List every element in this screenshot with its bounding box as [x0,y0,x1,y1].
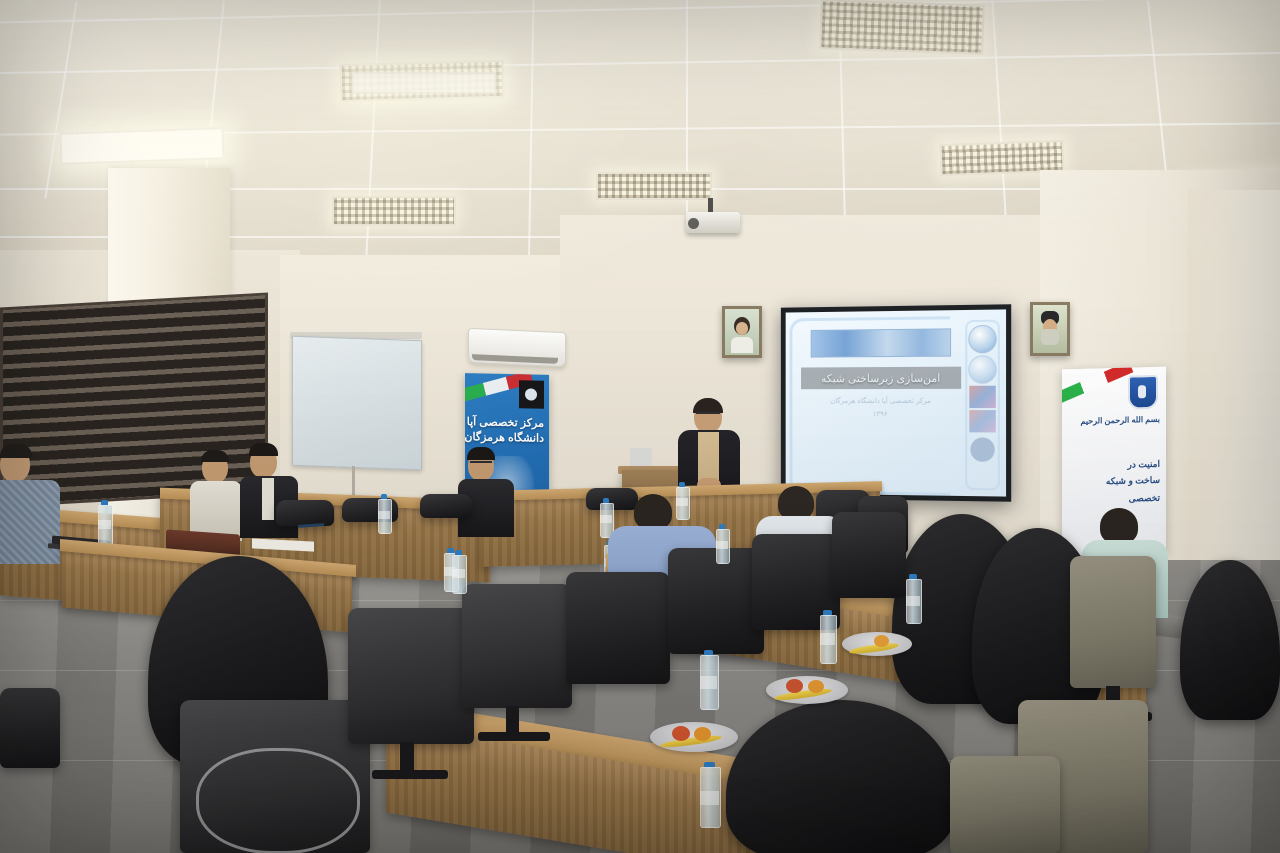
slide-subtitle-1: مرکز تخصصی آپا دانشگاه هرمزگان [801,397,961,405]
apple [786,679,803,693]
panel-chair[interactable] [420,494,472,518]
slide-badge-icon [968,325,997,354]
banner-left-line-1: مرکز تخصصی آپا [467,415,544,430]
orange [874,635,889,647]
banner-right-line-1: بسم الله الرحمن الرحیم [1081,415,1160,426]
ceiling-light-panel [352,72,496,94]
panel-chair[interactable] [276,500,334,526]
office-chair[interactable] [566,572,670,684]
ceiling-light-grill [332,196,456,226]
portrait-khamenei [1030,302,1070,356]
banana [660,734,722,750]
podium-device [630,448,652,466]
fruit-plate [842,632,912,656]
ceiling-light-panel [59,127,224,165]
panelist-3-hair [249,443,278,456]
panelist-4-glasses-icon [470,461,492,467]
slide-photo-thumb [969,386,996,408]
projector-lens-icon [688,218,699,229]
orange [808,680,824,693]
water-bottle [452,550,465,592]
water-bottle [378,494,390,532]
panelist-1-hair [0,444,32,458]
presenter-glasses-icon [696,412,720,418]
audience-man-head [1100,508,1138,544]
window-blinds[interactable] [0,293,268,508]
banner-left-line-2: دانشگاه هرمزگان [465,430,544,445]
chair-chrome-frame [196,748,360,853]
chair-base [372,770,448,779]
pulldown-projection-screen [292,336,422,471]
banner-right-line-3: ساخت و شبکه [1106,475,1160,487]
slide-hero-image [811,328,951,357]
panelist-1-torso [0,480,60,564]
office-chair[interactable] [348,608,474,744]
apple [672,726,690,741]
slide-seal-icon [968,355,997,384]
slide-subtitle-2: ۱۳۹۶ [801,410,961,418]
iran-flag-ribbon-icon [1062,367,1133,404]
slide-title-band: امن‌سازی زیرساختی شبکه [801,367,961,390]
water-bottle [700,650,717,708]
slide-title: امن‌سازی زیرساختی شبکه [821,371,940,384]
chair-base [478,732,550,741]
water-bottle [98,500,111,544]
orange [694,727,711,741]
panelist-3-shirt [262,478,274,520]
water-bottle [716,524,728,562]
water-bottle [820,610,835,662]
office-chair-olive[interactable] [1070,556,1156,688]
banana [774,687,832,702]
banner-logo-icon [519,380,544,409]
water-bottle [600,498,612,536]
office-chair[interactable] [462,584,572,708]
audience-man-head [778,486,814,520]
water-bottle [906,574,920,622]
office-chair[interactable] [668,548,764,654]
fruit-plate [650,722,738,752]
presentation-slide: امن‌سازی زیرساختی شبکه مرکز تخصصی آپا دا… [786,309,1006,496]
projection-screen: امن‌سازی زیرساختی شبکه مرکز تخصصی آپا دا… [781,304,1011,501]
slide-logo-rail [965,320,1000,491]
office-chair[interactable] [0,688,60,768]
water-bottle [676,482,688,518]
fruit-plate [766,676,848,704]
slide-photo-thumb [969,410,996,432]
water-bottle [700,762,719,826]
ceiling-light-grill [596,172,712,200]
conference-room-photo: امن‌سازی زیرساختی شبکه مرکز تخصصی آپا دا… [0,0,1280,853]
office-chair-olive[interactable] [950,756,1060,853]
panelist-2-hair [201,450,229,462]
panelist-4-hair [467,447,495,460]
banner-right-line-4: تخصصی [1129,493,1160,505]
banner-right-line-2: امنیت در [1128,459,1160,471]
portrait-khomeini [722,306,762,358]
office-chair[interactable] [832,512,906,598]
audience-man-head [634,494,672,530]
ceiling-light-grill [819,0,985,55]
shield-icon [1128,375,1158,410]
slide-dot-icon [970,437,994,461]
